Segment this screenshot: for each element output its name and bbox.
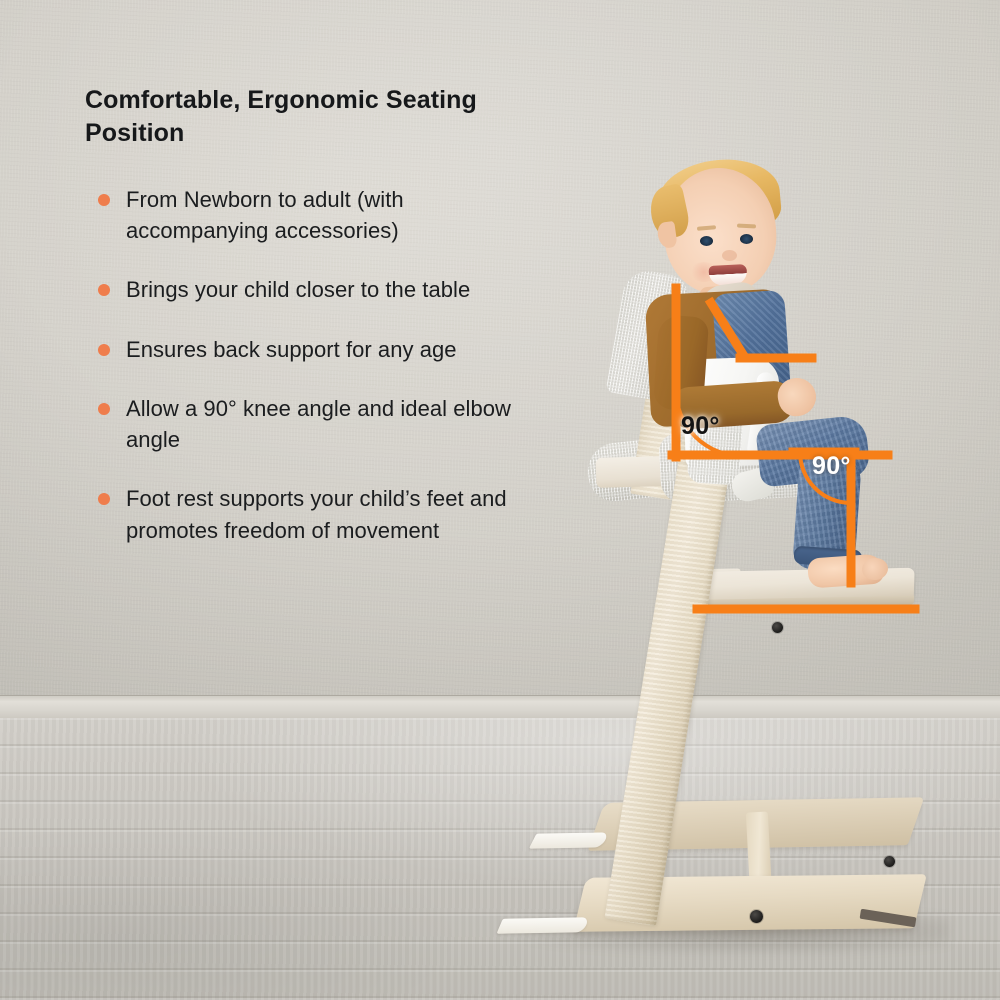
elbow-angle-label: 90° [681,412,720,441]
product-infographic: Comfortable, Ergonomic Seating Position … [0,0,1000,1000]
child-eye [740,234,753,244]
child-nose [722,250,737,261]
knee-angle-label: 90° [812,452,851,481]
seated-child [0,0,1000,1000]
child-eye [700,236,713,246]
child-ear [656,221,677,249]
